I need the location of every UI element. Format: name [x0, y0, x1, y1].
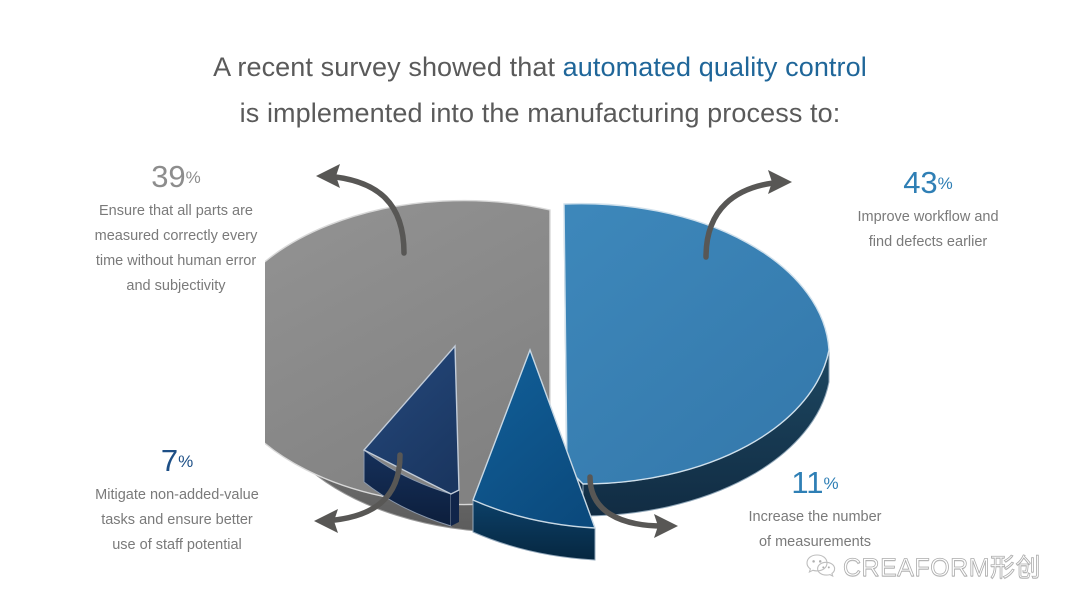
callout-11: 11% Increase the number of measurements: [700, 466, 930, 555]
callout-39: 39% Ensure that all parts are measured c…: [52, 160, 300, 299]
watermark-label: CREAFORM形创: [843, 548, 1041, 584]
wechat-bubble-icon: [806, 553, 836, 579]
callout-39-percent: 39%: [52, 160, 300, 195]
callout-43-percent: 43%: [812, 166, 1044, 201]
title-accent: automated quality control: [563, 52, 867, 82]
watermark: CREAFORM形创: [806, 548, 1041, 584]
page-title: A recent survey showed that automated qu…: [0, 44, 1080, 136]
callout-7: 7% Mitigate non-added-value tasks and en…: [56, 444, 298, 558]
callout-7-percent: 7%: [56, 444, 298, 479]
callout-39-description: Ensure that all parts are measured corre…: [52, 199, 300, 299]
title-line-1: A recent survey showed that automated qu…: [0, 44, 1080, 90]
title-line-2: is implemented into the manufacturing pr…: [0, 90, 1080, 136]
title-prefix: A recent survey showed that: [213, 52, 563, 82]
callout-11-percent: 11%: [700, 466, 930, 501]
callout-43: 43% Improve workflow and find defects ea…: [812, 166, 1044, 255]
callout-43-description: Improve workflow and find defects earlie…: [812, 205, 1044, 255]
callout-7-description: Mitigate non-added-value tasks and ensur…: [56, 483, 298, 558]
